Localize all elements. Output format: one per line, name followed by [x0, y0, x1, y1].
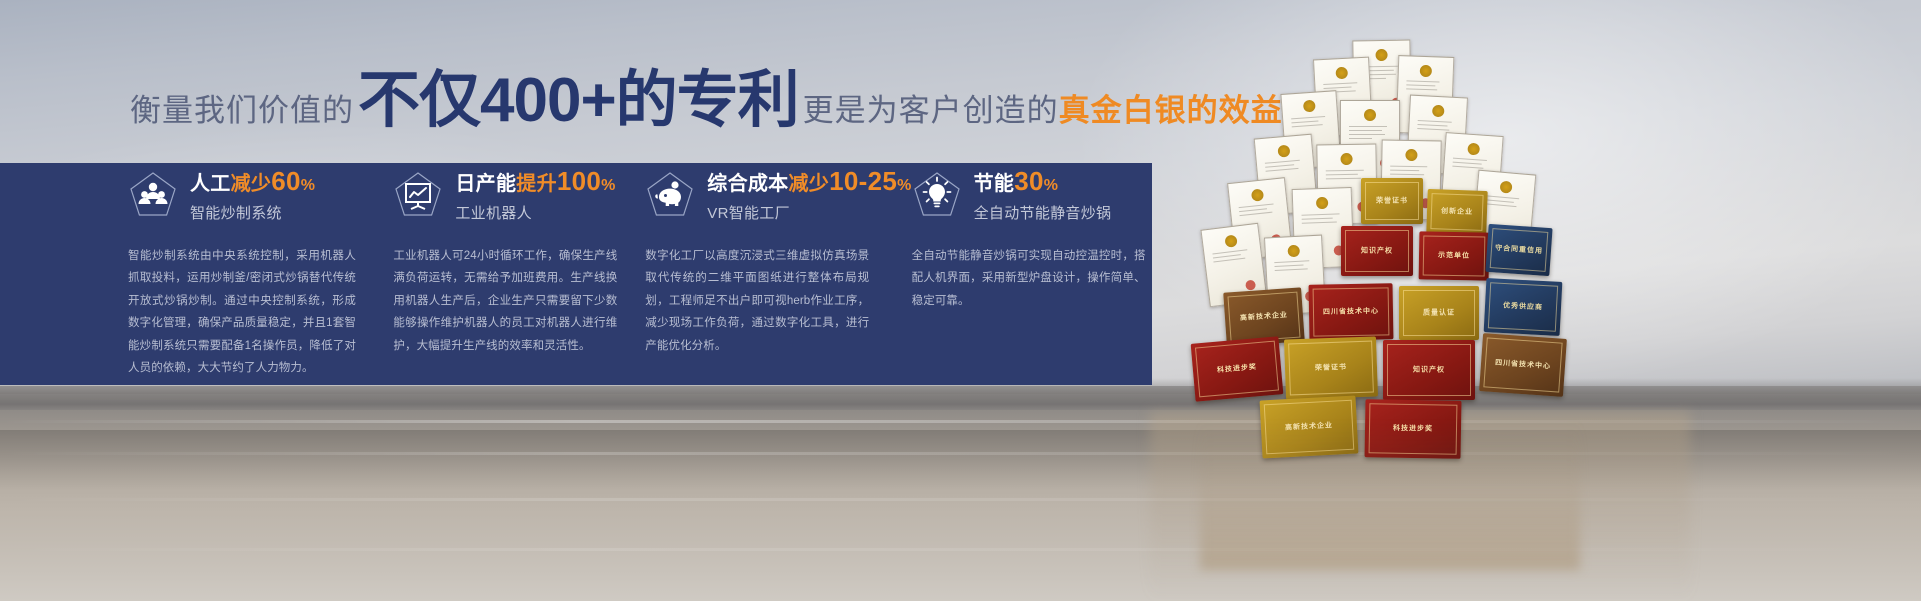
- award-plaque: 荣誉证书: [1361, 178, 1423, 224]
- features-list: 人工减少60% 智能炒制系统 智能炒制系统由中央系统控制，采用机器人抓取投料，运…: [0, 163, 1152, 393]
- award-plaque: 荣誉证书: [1284, 336, 1378, 399]
- award-plaque: 质量认证: [1399, 286, 1479, 340]
- headline-emphasis: 不仅400+的专利: [354, 70, 803, 132]
- feature-header: 日产能提升100% 工业机器人: [393, 163, 645, 227]
- feature-title: 日产能提升100%: [455, 167, 615, 197]
- feature-subtitle: 智能炒制系统: [190, 202, 315, 223]
- lightbulb-icon: [912, 170, 962, 220]
- feature-header: 节能30% 全自动节能静音炒锅: [912, 163, 1152, 227]
- feature-description: 数字化工厂以高度沉浸式三维虚拟仿真场景取代传统的二维平面图纸进行整体布局规划，工…: [645, 245, 869, 357]
- feature-title-number: 10-25: [829, 166, 897, 196]
- chart-board-icon: [393, 170, 443, 220]
- feature-description: 全自动节能静音炒锅可实现自动控温控时，搭配人机界面，采用新型炉盘设计，操作简单、…: [912, 245, 1146, 312]
- award-plaque: 守合同重信用: [1485, 224, 1552, 276]
- feature-header: 人工减少60% 智能炒制系统: [128, 163, 393, 227]
- feature-header: 综合成本减少10-25% VR智能工厂: [645, 163, 911, 227]
- feature-item-capacity-increase: 日产能提升100% 工业机器人 工业机器人可24小时循环工作，确保生产线满负荷运…: [393, 163, 645, 393]
- award-plaque: 科技进步奖: [1191, 336, 1284, 401]
- plaque-reflection: [1200, 420, 1580, 570]
- award-plaque: 示范单位: [1419, 231, 1490, 280]
- feature-item-energy-saving: 节能30% 全自动节能静音炒锅 全自动节能静音炒锅可实现自动控温控时，搭配人机界…: [912, 163, 1152, 393]
- feature-title-prefix: 日产能: [455, 173, 516, 195]
- award-plaque: 创新企业: [1426, 189, 1487, 235]
- feature-item-labor-reduction: 人工减少60% 智能炒制系统 智能炒制系统由中央系统控制，采用机器人抓取投料，运…: [128, 163, 393, 393]
- feature-item-cost-reduction: 综合成本减少10-25% VR智能工厂 数字化工厂以高度沉浸式三维虚拟仿真场景取…: [645, 163, 911, 393]
- certificate-pyramid: 荣誉证书 创新企业 知识产权 示范单位 守合同重信用 高新技术企业 四川省技术中…: [1165, 40, 1585, 470]
- feature-titles: 日产能提升100% 工业机器人: [455, 167, 615, 223]
- feature-title-number: 30: [1014, 166, 1044, 196]
- feature-title-unit: %: [601, 177, 616, 194]
- feature-subtitle: VR智能工厂: [707, 202, 911, 223]
- headline-lead: 衡量我们价值的: [130, 85, 354, 130]
- feature-title: 人工减少60%: [190, 167, 315, 197]
- feature-title-unit: %: [897, 177, 912, 194]
- feature-title-prefix: 人工: [190, 173, 231, 195]
- feature-title-highlight: 提升: [516, 173, 557, 195]
- award-plaque: 优秀供应商: [1484, 278, 1563, 336]
- feature-title-number: 60: [271, 166, 301, 196]
- feature-subtitle: 工业机器人: [455, 202, 615, 223]
- people-group-icon: [128, 170, 178, 220]
- page-title: 衡量我们价值的 不仅400+的专利 更是为客户创造的 真金白银的效益: [130, 70, 1283, 134]
- feature-subtitle: 全自动节能静音炒锅: [974, 202, 1112, 223]
- feature-title-unit: %: [1044, 177, 1059, 194]
- feature-description: 工业机器人可24小时循环工作，确保生产线满负荷运转，无需给予加班费用。生产线换用…: [393, 245, 617, 357]
- award-plaque: 四川省技术中心: [1309, 283, 1394, 340]
- feature-title-prefix: 节能: [974, 173, 1015, 195]
- feature-title: 综合成本减少10-25%: [707, 167, 911, 197]
- feature-title-number: 100: [557, 166, 601, 196]
- feature-title: 节能30%: [974, 167, 1112, 197]
- feature-title-unit: %: [301, 177, 316, 194]
- feature-title-prefix: 综合成本: [707, 173, 788, 195]
- piggy-bank-icon: [645, 170, 695, 220]
- award-plaque: 知识产权: [1341, 226, 1413, 276]
- feature-title-highlight: 减少: [788, 173, 829, 195]
- feature-titles: 人工减少60% 智能炒制系统: [190, 167, 315, 223]
- feature-title-highlight: 减少: [231, 173, 272, 195]
- feature-description: 智能炒制系统由中央系统控制，采用机器人抓取投料，运用炒制釜/密闭式炒锅替代传统开…: [128, 245, 356, 380]
- award-plaque: 知识产权: [1383, 340, 1475, 400]
- award-plaque: 四川省技术中心: [1479, 333, 1567, 397]
- feature-titles: 综合成本减少10-25% VR智能工厂: [707, 167, 911, 223]
- headline-middle: 更是为客户创造的: [803, 85, 1059, 130]
- feature-titles: 节能30% 全自动节能静音炒锅: [974, 167, 1112, 223]
